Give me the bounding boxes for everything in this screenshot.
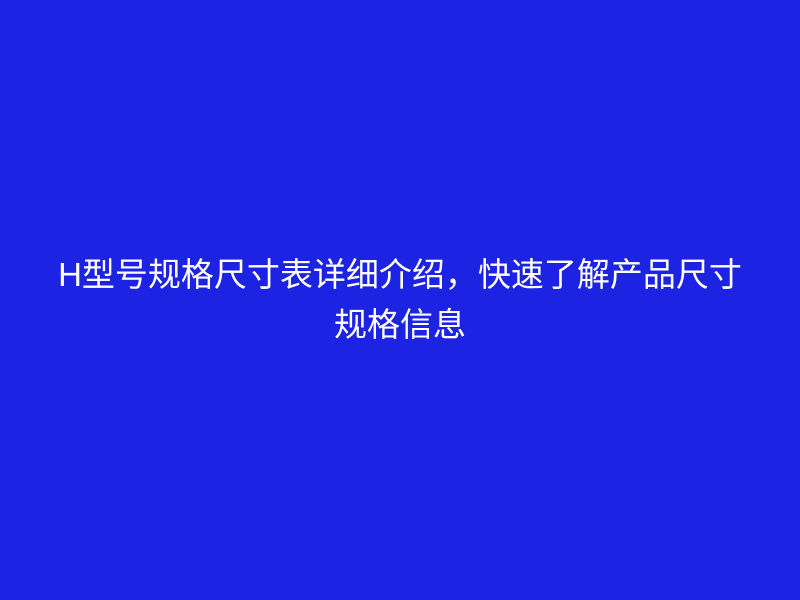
title-card: H型号规格尺寸表详细介绍，快速了解产品尺寸规格信息 xyxy=(0,0,800,600)
page-title: H型号规格尺寸表详细介绍，快速了解产品尺寸规格信息 xyxy=(55,250,745,350)
title-block: H型号规格尺寸表详细介绍，快速了解产品尺寸规格信息 xyxy=(55,250,745,350)
